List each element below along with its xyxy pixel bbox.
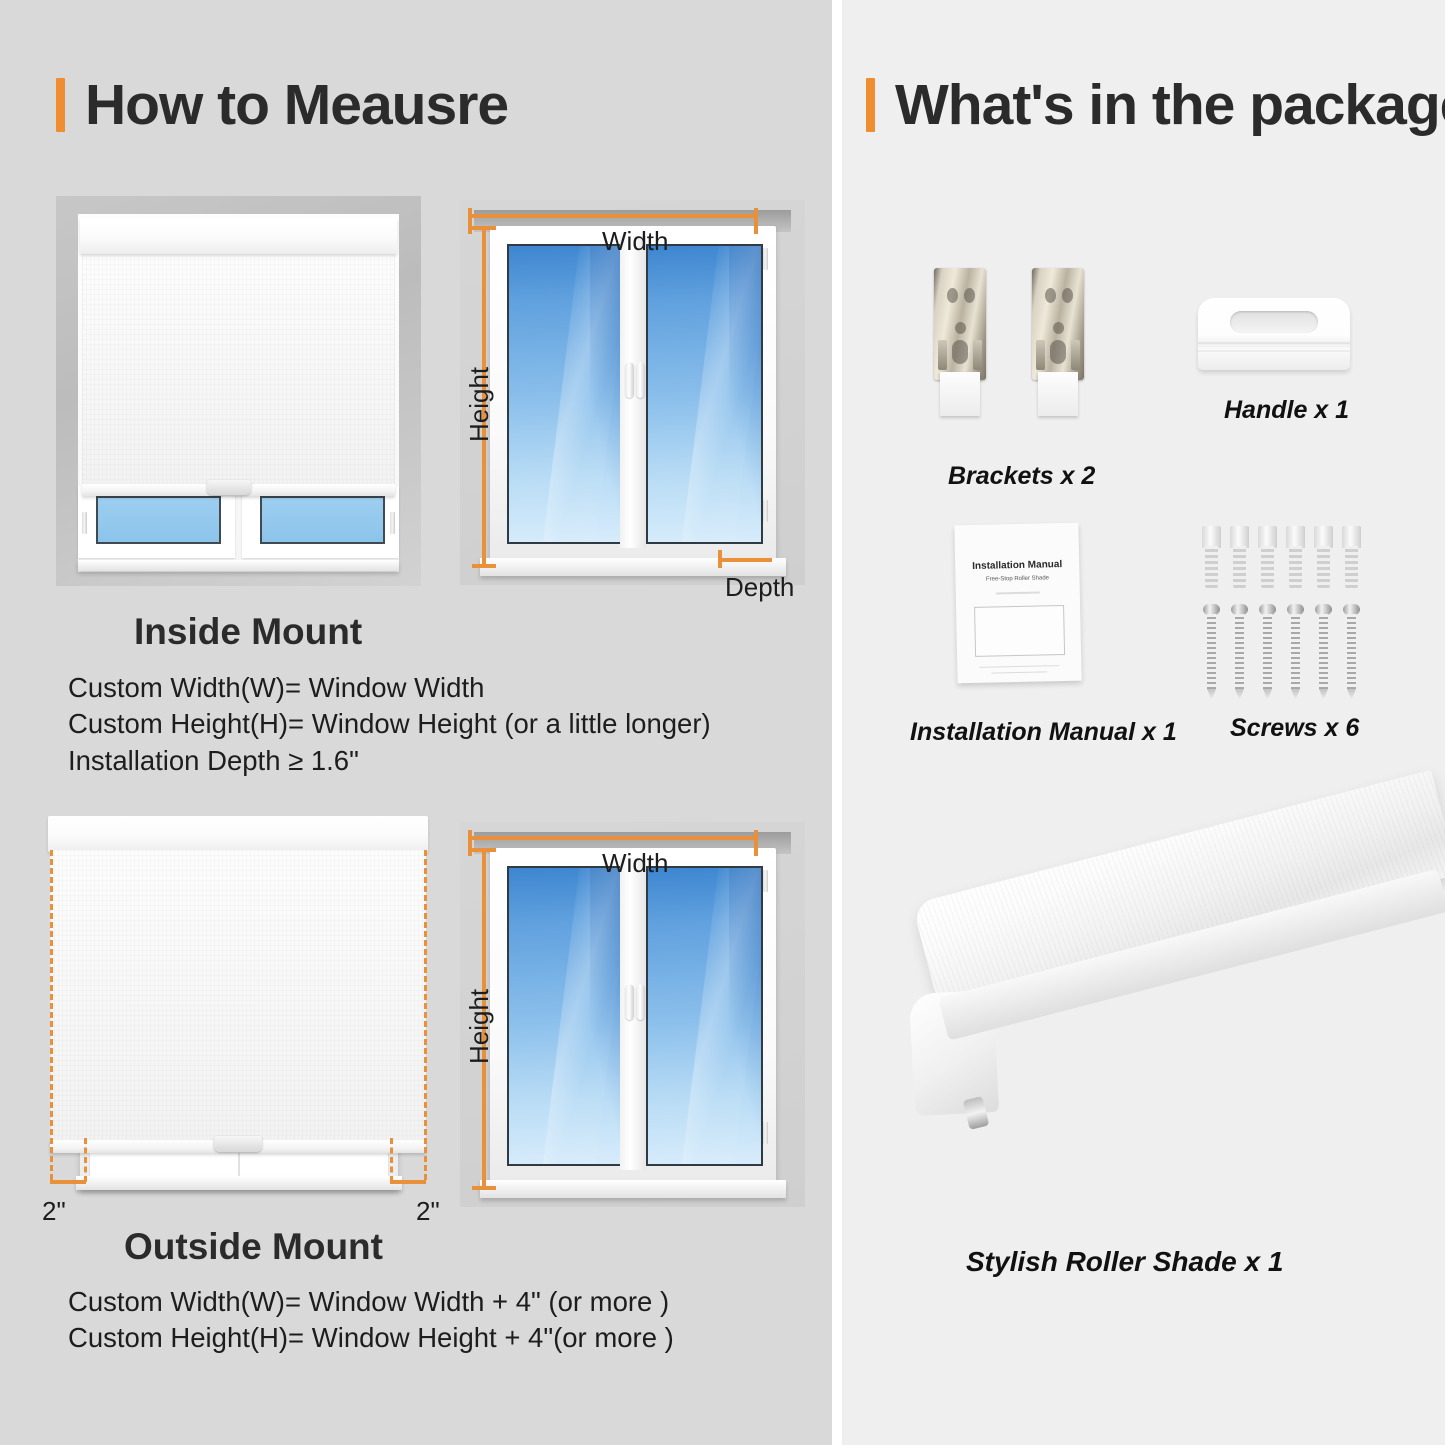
anchor-cap	[1258, 526, 1277, 548]
diagram-hinge-top	[763, 870, 768, 892]
diagram-pane-left	[507, 244, 624, 544]
overhang-guide-left	[50, 850, 53, 1180]
panel-divider	[832, 0, 842, 1445]
inside-mount-text: Custom Width(W)= Window Width Custom Hei…	[68, 670, 711, 779]
window-hinge-left	[82, 512, 87, 534]
anchor-cap	[1202, 526, 1221, 548]
wall-anchor-icon	[1258, 526, 1277, 590]
diagram-pane-left	[507, 866, 624, 1166]
window-handle-left	[625, 362, 634, 398]
outside-mount-text: Custom Width(W)= Window Width + 4" (or m…	[68, 1284, 674, 1357]
glass-shade	[590, 868, 624, 1164]
outside-shade-valance	[48, 816, 428, 852]
overhang-tick-right	[390, 1180, 426, 1184]
bracket-hole	[1045, 288, 1056, 303]
package-contents-panel: What's in the package	[842, 0, 1445, 1445]
inside-mount-title: Inside Mount	[134, 611, 362, 653]
outside-mount-line-2: Custom Height(H)= Window Height + 4"(or …	[68, 1320, 674, 1356]
screw-tip	[1235, 689, 1244, 700]
height-marker-top-tick	[472, 226, 496, 230]
screw-tip	[1291, 689, 1300, 700]
height-marker-bottom-tick	[472, 564, 496, 568]
bracket-slot	[938, 340, 947, 370]
screw-shaft	[1291, 614, 1300, 690]
screw-icon	[1287, 604, 1304, 700]
screw-icon	[1343, 604, 1360, 700]
bracket-hole	[1053, 322, 1064, 334]
glass-shade	[729, 868, 763, 1164]
outside-shade-fabric	[50, 850, 426, 1146]
handle-slot	[1230, 311, 1318, 333]
screw-tip	[1207, 689, 1216, 700]
bracket-mount-tab	[1038, 372, 1078, 416]
inside-mount-line-2: Custom Height(H)= Window Height (or a li…	[68, 706, 711, 742]
glass-shade	[729, 246, 763, 542]
heading-text: What's in the package	[895, 72, 1445, 138]
diagram-hinge-bottom	[763, 1122, 768, 1144]
depth-marker	[718, 558, 772, 562]
overhang-label-right: 2"	[416, 1196, 440, 1227]
screw-shaft	[1263, 614, 1272, 690]
outside-mount-title: Outside Mount	[124, 1226, 383, 1268]
anchor-body	[1261, 546, 1274, 590]
bracket-hole	[947, 288, 958, 303]
bracket-icon	[1032, 268, 1084, 416]
diagram-pane-right	[646, 866, 763, 1166]
anchor-body	[1205, 546, 1218, 590]
outside-window-sill	[76, 1176, 402, 1190]
roller-shade-valance	[80, 218, 397, 254]
screw-icon	[1231, 604, 1248, 700]
manual-label: Installation Manual x 1	[910, 718, 1177, 747]
anchor-cap	[1286, 526, 1305, 548]
screw-icon	[1203, 604, 1220, 700]
roller-shade-fabric	[82, 250, 395, 490]
inside-mount-line-1: Custom Width(W)= Window Width	[68, 670, 711, 706]
screw-shaft	[1319, 614, 1328, 690]
anchor-body	[1233, 546, 1246, 590]
how-to-measure-heading: How to Meausre	[56, 72, 508, 138]
screw-icon	[1259, 604, 1276, 700]
manual-cover-figure	[974, 605, 1065, 657]
inside-mount-window-diagram: Width Height Depth	[460, 200, 805, 600]
width-label: Width	[602, 226, 668, 257]
width-marker-right-tick	[754, 208, 758, 234]
handle-ridge	[1198, 350, 1350, 352]
manual-icon: Installation Manual Free-Stop Roller Sha…	[954, 523, 1081, 684]
screws-group	[1202, 526, 1382, 698]
inside-mount-line-3: Installation Depth ≥ 1.6"	[68, 743, 711, 779]
bracket-hole	[955, 322, 966, 334]
outside-mount-window-diagram: Width Height	[460, 822, 805, 1222]
manual-cover-rule	[996, 592, 1040, 595]
window-handle-right	[636, 362, 645, 398]
bracket-slot	[973, 340, 982, 370]
heading-text: How to Meausre	[85, 72, 508, 138]
wall-anchor-icon	[1286, 526, 1305, 590]
wall-anchor-icon	[1314, 526, 1333, 590]
window-edge-guide-left	[84, 1138, 87, 1182]
window-sill	[78, 560, 399, 571]
width-label: Width	[602, 848, 668, 879]
package-heading: What's in the package	[866, 72, 1445, 138]
bracket-slot	[1071, 340, 1080, 370]
heading-accent-bar	[866, 78, 875, 132]
roller-shade-label: Stylish Roller Shade x 1	[966, 1246, 1283, 1278]
anchor-cap	[1342, 526, 1361, 548]
window-hinge-right	[390, 512, 395, 534]
diagram-pane-right	[646, 244, 763, 544]
screws-label: Screws x 6	[1230, 714, 1359, 743]
infographic-page: How to Meausre	[0, 0, 1445, 1445]
diagram-hinge-top	[763, 248, 768, 270]
window-edge-guide-right	[390, 1138, 393, 1182]
bracket-center-hole	[1050, 340, 1066, 364]
wall-anchor-icon	[1342, 526, 1361, 590]
depth-marker-tick	[718, 550, 722, 568]
width-marker-right-tick	[754, 830, 758, 856]
overhang-label-left: 2"	[42, 1196, 66, 1227]
screw-shaft	[1347, 614, 1356, 690]
height-marker-bottom-tick	[472, 1186, 496, 1190]
width-marker-left-tick	[468, 208, 472, 234]
outside-shade-pull-handle	[214, 1136, 262, 1152]
height-label: Height	[464, 367, 495, 442]
screw-shaft	[1207, 614, 1216, 690]
inside-mount-illustration	[56, 196, 421, 586]
manual-footer-rule	[991, 671, 1047, 673]
overhang-tick-left	[50, 1180, 86, 1184]
wall-anchor-icon	[1230, 526, 1249, 590]
anchor-cap	[1314, 526, 1333, 548]
height-label: Height	[464, 989, 495, 1064]
manual-cover-subtitle: Free-Stop Roller Shade	[955, 575, 1079, 584]
bracket-hole	[964, 288, 975, 303]
handle-icon	[1198, 298, 1350, 370]
anchor-body	[1289, 546, 1302, 590]
handle-ridge	[1198, 342, 1350, 344]
roller-shade-pull-handle	[207, 480, 251, 495]
screw-tip	[1319, 689, 1328, 700]
diagram-sill	[480, 1180, 786, 1198]
anchor-cap	[1230, 526, 1249, 548]
manual-footer-rule	[979, 665, 1059, 668]
roller-shade-icon	[882, 880, 1442, 1210]
anchor-body	[1345, 546, 1358, 590]
outside-mount-line-1: Custom Width(W)= Window Width + 4" (or m…	[68, 1284, 674, 1320]
bracket-slot	[1036, 340, 1045, 370]
bracket-mount-tab	[940, 372, 980, 416]
outside-mount-illustration	[28, 808, 448, 1208]
handle-label: Handle x 1	[1224, 396, 1349, 425]
screw-icon	[1315, 604, 1332, 700]
depth-label: Depth	[725, 572, 794, 603]
bracket-icon	[934, 268, 986, 416]
window-glass-left	[96, 496, 221, 544]
height-marker-top-tick	[472, 848, 496, 852]
anchor-body	[1317, 546, 1330, 590]
width-marker-top	[468, 836, 758, 840]
window-handle-left	[625, 984, 634, 1020]
width-marker-left-tick	[468, 830, 472, 856]
how-to-measure-panel: How to Meausre	[0, 0, 832, 1445]
wall-anchor-icon	[1202, 526, 1221, 590]
heading-accent-bar	[56, 78, 65, 132]
window-handle-right	[636, 984, 645, 1020]
brackets-label: Brackets x 2	[948, 462, 1095, 491]
glass-shade	[590, 246, 624, 542]
width-marker-top	[468, 214, 758, 218]
manual-cover-title: Installation Manual	[955, 559, 1079, 573]
window-glass-right	[260, 496, 385, 544]
screw-shaft	[1235, 614, 1244, 690]
screw-tip	[1347, 689, 1356, 700]
screw-tip	[1263, 689, 1272, 700]
diagram-hinge-bottom	[763, 500, 768, 522]
bracket-hole	[1062, 288, 1073, 303]
bracket-center-hole	[952, 340, 968, 364]
brackets-item	[922, 268, 1132, 428]
overhang-guide-right	[424, 850, 427, 1180]
